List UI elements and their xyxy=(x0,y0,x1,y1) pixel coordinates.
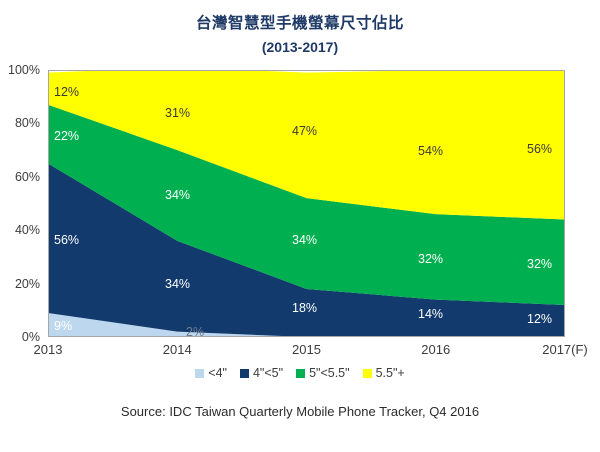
legend-item[interactable]: 5.5"+ xyxy=(363,366,405,380)
data-point-label: 12% xyxy=(527,312,552,326)
x-axis-tick-label: 2013 xyxy=(8,341,88,359)
legend-swatch-icon xyxy=(363,369,372,378)
x-axis-tick-label: 2015 xyxy=(267,341,347,359)
data-point-label: 9% xyxy=(54,319,72,333)
legend-item-label: 5"<5.5" xyxy=(309,366,350,380)
data-point-label: 32% xyxy=(527,257,552,271)
data-point-label: 22% xyxy=(54,129,79,143)
legend-item-label: 5.5"+ xyxy=(376,366,405,380)
x-axis: 20132014201520162017(F) xyxy=(0,341,600,361)
page-title: 台灣智慧型手機螢幕尺寸佔比 xyxy=(0,14,600,34)
legend-item-label: 4"<5" xyxy=(253,366,283,380)
data-point-label: 18% xyxy=(292,301,317,315)
area-series-group xyxy=(48,70,565,337)
data-point-label: 12% xyxy=(54,85,79,99)
data-point-label: 2% xyxy=(186,325,204,339)
y-axis-tick-label: 60% xyxy=(0,169,40,185)
stacked-area-svg xyxy=(48,70,565,337)
x-axis-tick-label: 2014 xyxy=(137,341,217,359)
x-axis-tick-label: 2016 xyxy=(396,341,476,359)
data-point-label: 31% xyxy=(165,106,190,120)
legend-swatch-icon xyxy=(195,369,204,378)
y-axis-tick-label: 80% xyxy=(0,115,40,131)
legend-item[interactable]: <4" xyxy=(195,366,227,380)
legend-item-label: <4" xyxy=(208,366,227,380)
data-point-label: 56% xyxy=(527,142,552,156)
y-axis-tick-label: 100% xyxy=(0,62,40,78)
y-axis-tick-label: 20% xyxy=(0,276,40,292)
chart-root: 台灣智慧型手機螢幕尺寸佔比 (2013-2017) 0%20%40%60%80%… xyxy=(0,0,600,452)
data-point-label: 54% xyxy=(418,144,443,158)
chart-title-block: 台灣智慧型手機螢幕尺寸佔比 (2013-2017) xyxy=(0,14,600,57)
data-point-label: 47% xyxy=(292,124,317,138)
data-point-label: 56% xyxy=(54,233,79,247)
data-point-label: 34% xyxy=(165,277,190,291)
chart-legend: <4"4"<5"5"<5.5"5.5"+ xyxy=(0,366,600,380)
legend-item[interactable]: 4"<5" xyxy=(240,366,283,380)
legend-swatch-icon xyxy=(240,369,249,378)
y-axis: 0%20%40%60%80%100% xyxy=(0,62,44,345)
legend-item[interactable]: 5"<5.5" xyxy=(296,366,350,380)
x-axis-tick-label: 2017(F) xyxy=(525,341,600,359)
data-point-label: 34% xyxy=(165,188,190,202)
chart-subtitle: (2013-2017) xyxy=(0,37,600,57)
y-axis-tick-label: 40% xyxy=(0,222,40,238)
plot-area xyxy=(48,70,565,337)
source-note: Source: IDC Taiwan Quarterly Mobile Phon… xyxy=(0,404,600,419)
legend-swatch-icon xyxy=(296,369,305,378)
data-point-label: 34% xyxy=(292,233,317,247)
data-point-label: 14% xyxy=(418,307,443,321)
data-point-label: 32% xyxy=(418,252,443,266)
